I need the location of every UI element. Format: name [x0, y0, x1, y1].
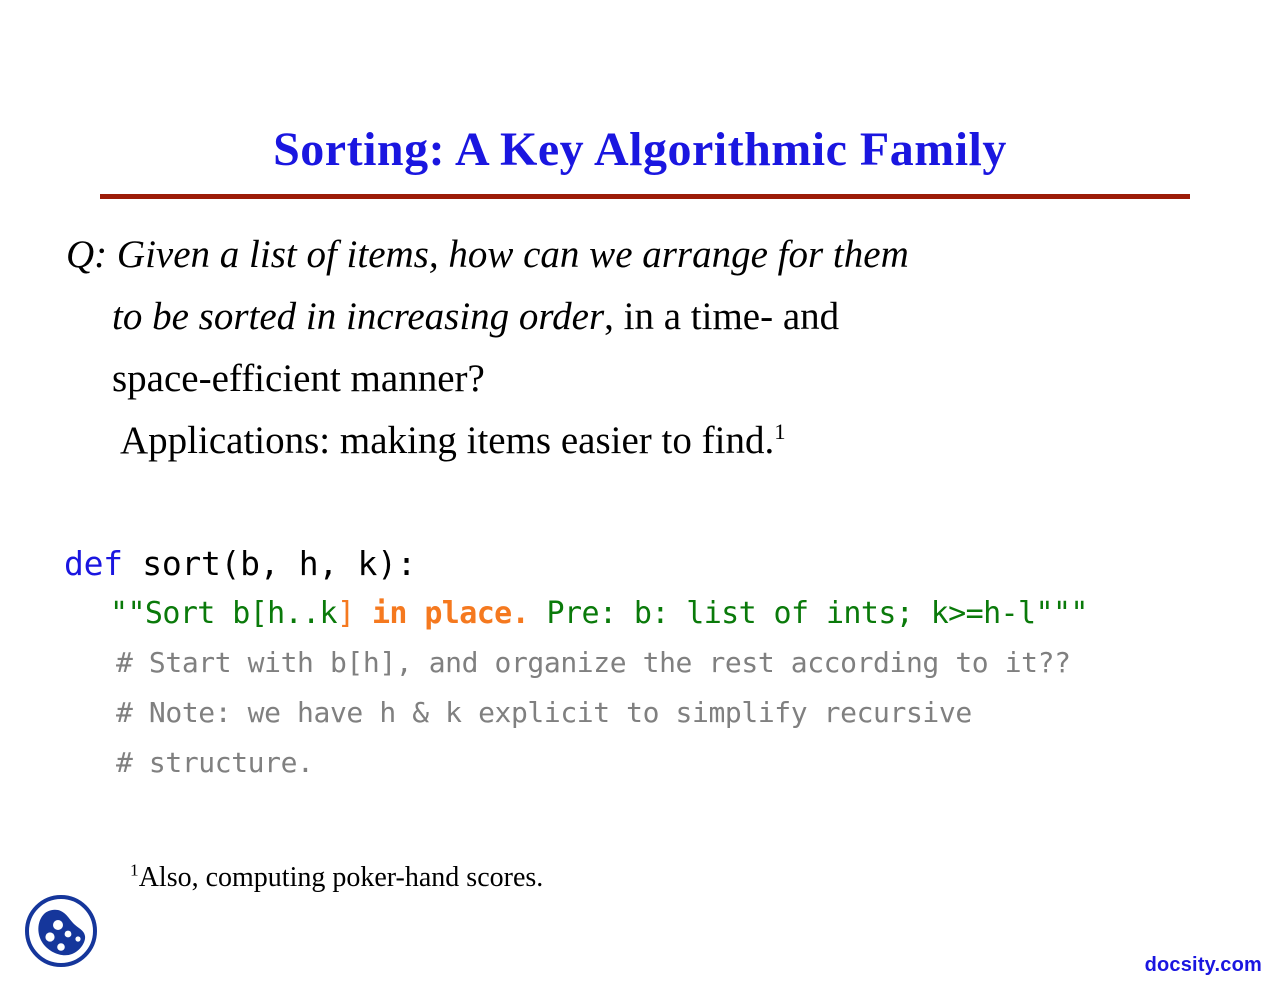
docstring-close-bracket: ] [337, 596, 354, 631]
code-block: def sort(b, h, k): ""Sort b[h..k] in pla… [64, 538, 1254, 788]
question-block: Q: Given a list of items, how can we arr… [66, 224, 1246, 472]
footnote-text: Also, computing poker-hand scores. [139, 862, 544, 893]
code-line-docstring: ""Sort b[h..k] in place. Pre: b: list of… [110, 590, 1254, 638]
title-block: Sorting: A Key Algorithmic Family [0, 122, 1280, 178]
presentation-slide: Sorting: A Key Algorithmic Family Q: Giv… [0, 0, 1280, 989]
code-line-comment-1: # Start with b[h], and organize the rest… [116, 638, 1254, 688]
title-divider [100, 194, 1190, 199]
code-line-def: def sort(b, h, k): [64, 538, 1254, 590]
comment-1-text: # Start with b[h], and organize the rest… [116, 646, 1071, 679]
comment-2-text: # Note: we have h & k explicit to simpli… [116, 696, 972, 729]
docsity-watermark: docsity.com [1145, 954, 1262, 977]
question-line-4: Applications: making items easier to fin… [120, 410, 1246, 472]
footnote-marker: 1 [130, 861, 139, 880]
footnote: 1Also, computing poker-hand scores. [130, 860, 543, 896]
question-line-2-roman-text: , in a time- and [604, 295, 839, 338]
docstring-open-text: ""Sort b[h..k [110, 596, 337, 631]
page-title: Sorting: A Key Algorithmic Family [0, 122, 1280, 178]
docstring-precondition: Pre: b: list of ints; k>=h-l""" [529, 596, 1088, 631]
code-line-comment-2: # Note: we have h & k explicit to simpli… [116, 688, 1254, 738]
question-line-2-italic-text: to be sorted in increasing order [112, 295, 604, 338]
comment-3-text: # structure. [116, 746, 314, 779]
question-line-3: space-efficient manner? [112, 348, 1246, 410]
question-line-2: to be sorted in increasing order, in a t… [112, 286, 1246, 348]
python-def-keyword: def [64, 544, 123, 583]
docsity-logo [22, 892, 100, 970]
footnote-marker-inline: 1 [774, 419, 785, 444]
question-line-1: Q: Given a list of items, how can we arr… [66, 224, 1246, 286]
code-line-comment-3: # structure. [116, 738, 1254, 788]
applications-text: Applications: making items easier to fin… [120, 419, 774, 462]
question-line-3-text: space-efficient manner? [112, 357, 485, 400]
function-signature: sort(b, h, k): [123, 544, 417, 583]
docstring-emphasis: in place. [372, 596, 529, 631]
question-line-1-text: Q: Given a list of items, how can we arr… [66, 233, 909, 276]
